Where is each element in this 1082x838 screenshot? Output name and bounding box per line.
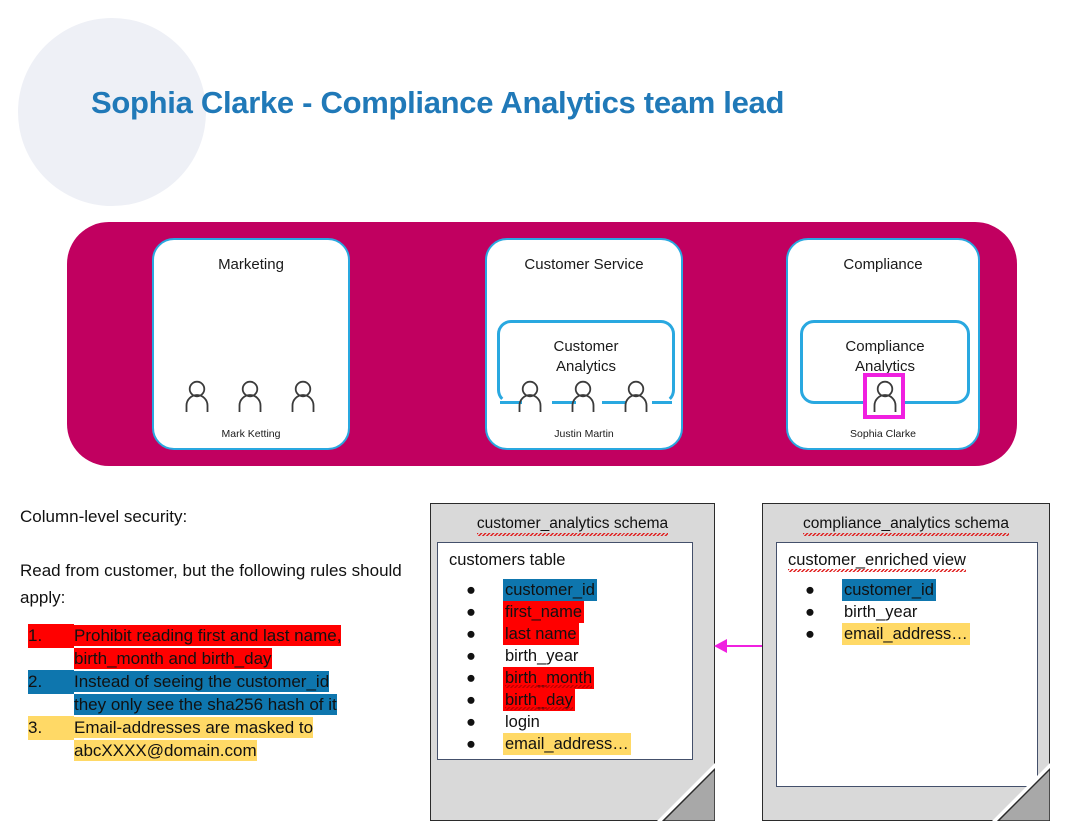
department-card-customer-service[interactable]: Customer Service Customer Analytics Just… xyxy=(485,238,683,450)
bullet-icon: ● xyxy=(466,711,475,733)
schema-document-compliance-analytics[interactable]: compliance_analytics schema customer_enr… xyxy=(762,503,1050,821)
schema-column-row: ●birth_day xyxy=(466,689,631,711)
department-card-marketing[interactable]: Marketing Mark Ketting xyxy=(152,238,350,450)
person-icon xyxy=(515,380,545,414)
schema-column-name: birth_year xyxy=(503,645,580,667)
schema-column-row: ●first_name xyxy=(466,601,631,623)
rule-item: 2.Instead of seeing the customer_id they… xyxy=(28,670,398,716)
schema-column-name: email_address… xyxy=(503,733,631,755)
rule-text-line2: they only see the sha256 hash of it xyxy=(74,694,337,715)
rule-text-line2: birth_month and birth_day xyxy=(74,648,272,669)
rule-item: 3.Email-addresses are masked to abcXXXX@… xyxy=(28,716,398,762)
person-icon xyxy=(621,380,651,414)
rule-number: 2. xyxy=(28,670,74,694)
schema-object-panel: customer_enriched view ●customer_id ●bir… xyxy=(776,542,1038,787)
rule-text-line2: abcXXXX@domain.com xyxy=(74,740,257,761)
department-title: Marketing xyxy=(154,256,348,273)
person-icon xyxy=(288,380,318,414)
schema-column-name: first_name xyxy=(503,601,584,623)
page-fold-icon xyxy=(992,763,1050,821)
bullet-icon: ● xyxy=(466,579,475,601)
department-owner: Justin Martin xyxy=(487,428,681,440)
rule-text-line1: Prohibit reading first and last name, xyxy=(74,625,341,646)
person-icon xyxy=(182,380,212,414)
schema-column-row: ●birth_year xyxy=(805,601,970,623)
notes-heading: Column-level security: xyxy=(20,507,187,527)
person-icon xyxy=(235,380,265,414)
connector-arrowhead-icon xyxy=(714,639,727,653)
bullet-icon: ● xyxy=(466,623,475,645)
department-owner: Mark Ketting xyxy=(154,428,348,440)
schema-column-list: ●customer_id ●birth_year ●email_address… xyxy=(805,579,970,645)
schema-column-row: ●email_address… xyxy=(805,623,970,645)
rule-text-line1: Email-addresses are masked to xyxy=(74,717,313,738)
schema-column-name: customer_id xyxy=(842,579,936,601)
person-icon xyxy=(870,380,900,414)
schema-column-row: ●customer_id xyxy=(466,579,631,601)
notes-intro: Read from customer, but the following ru… xyxy=(20,557,410,611)
slide-canvas: Sophia Clarke - Compliance Analytics tea… xyxy=(0,0,1082,838)
rules-list: 1.Prohibit reading first and last name, … xyxy=(28,624,398,762)
schema-column-row: ●customer_id xyxy=(805,579,970,601)
bullet-icon: ● xyxy=(805,579,814,601)
rule-number: 3. xyxy=(28,716,74,740)
schema-column-list: ●customer_id ●first_name ●last name ●bir… xyxy=(466,579,631,755)
analytics-team-label: Compliance Analytics xyxy=(803,337,967,377)
bullet-icon: ● xyxy=(466,601,475,623)
schema-column-name: email_address… xyxy=(842,623,970,645)
schema-column-name: birth_year xyxy=(842,601,919,623)
analytics-team-label-line1: Compliance xyxy=(845,338,924,355)
schema-column-row: ●birth_year xyxy=(466,645,631,667)
person-icon xyxy=(568,380,598,414)
schema-document-title: customer_analytics schema xyxy=(431,515,714,533)
department-card-compliance[interactable]: Compliance Compliance Analytics Sophia C… xyxy=(786,238,980,450)
schema-column-name: birth_month xyxy=(503,667,594,689)
schema-column-name: customer_id xyxy=(503,579,597,601)
schema-object-panel: customers table ●customer_id ●first_name… xyxy=(437,542,693,760)
schema-column-row: ●login xyxy=(466,711,631,733)
analytics-team-label: Customer Analytics xyxy=(500,337,672,377)
schema-column-row: ●email_address… xyxy=(466,733,631,755)
schema-document-title: compliance_analytics schema xyxy=(763,515,1049,533)
page-title: Sophia Clarke - Compliance Analytics tea… xyxy=(91,85,784,121)
rule-number: 1. xyxy=(28,624,74,648)
bullet-icon: ● xyxy=(466,689,475,711)
schema-object-name-text: customer_enriched view xyxy=(788,551,966,570)
bullet-icon: ● xyxy=(805,623,814,645)
bullet-icon: ● xyxy=(466,645,475,667)
department-title: Customer Service xyxy=(487,256,681,273)
bullet-icon: ● xyxy=(466,667,475,689)
analytics-team-label-line2: Analytics xyxy=(556,358,616,375)
schema-column-name: last name xyxy=(503,623,579,645)
bullet-icon: ● xyxy=(805,601,814,623)
schema-title-text: customer_analytics schema xyxy=(477,515,668,533)
schema-column-row: ●last name xyxy=(466,623,631,645)
analytics-team-label-line1: Customer xyxy=(553,338,618,355)
schema-column-name: birth_day xyxy=(503,689,575,711)
department-owner: Sophia Clarke xyxy=(788,428,978,440)
page-fold-icon xyxy=(657,763,715,821)
analytics-box-border-segment xyxy=(652,401,672,404)
schema-column-name: login xyxy=(503,711,542,733)
schema-object-name: customers table xyxy=(449,551,565,570)
schema-document-customer-analytics[interactable]: customer_analytics schema customers tabl… xyxy=(430,503,715,821)
rule-text-line1: Instead of seeing the customer_id xyxy=(74,671,329,692)
highlighted-person-focus-box[interactable] xyxy=(863,373,905,419)
department-title: Compliance xyxy=(788,256,978,273)
rule-item: 1.Prohibit reading first and last name, … xyxy=(28,624,398,670)
schema-title-text: compliance_analytics schema xyxy=(803,515,1009,533)
bullet-icon: ● xyxy=(466,733,475,755)
schema-object-name: customer_enriched view xyxy=(788,551,966,570)
schema-column-row: ●birth_month xyxy=(466,667,631,689)
